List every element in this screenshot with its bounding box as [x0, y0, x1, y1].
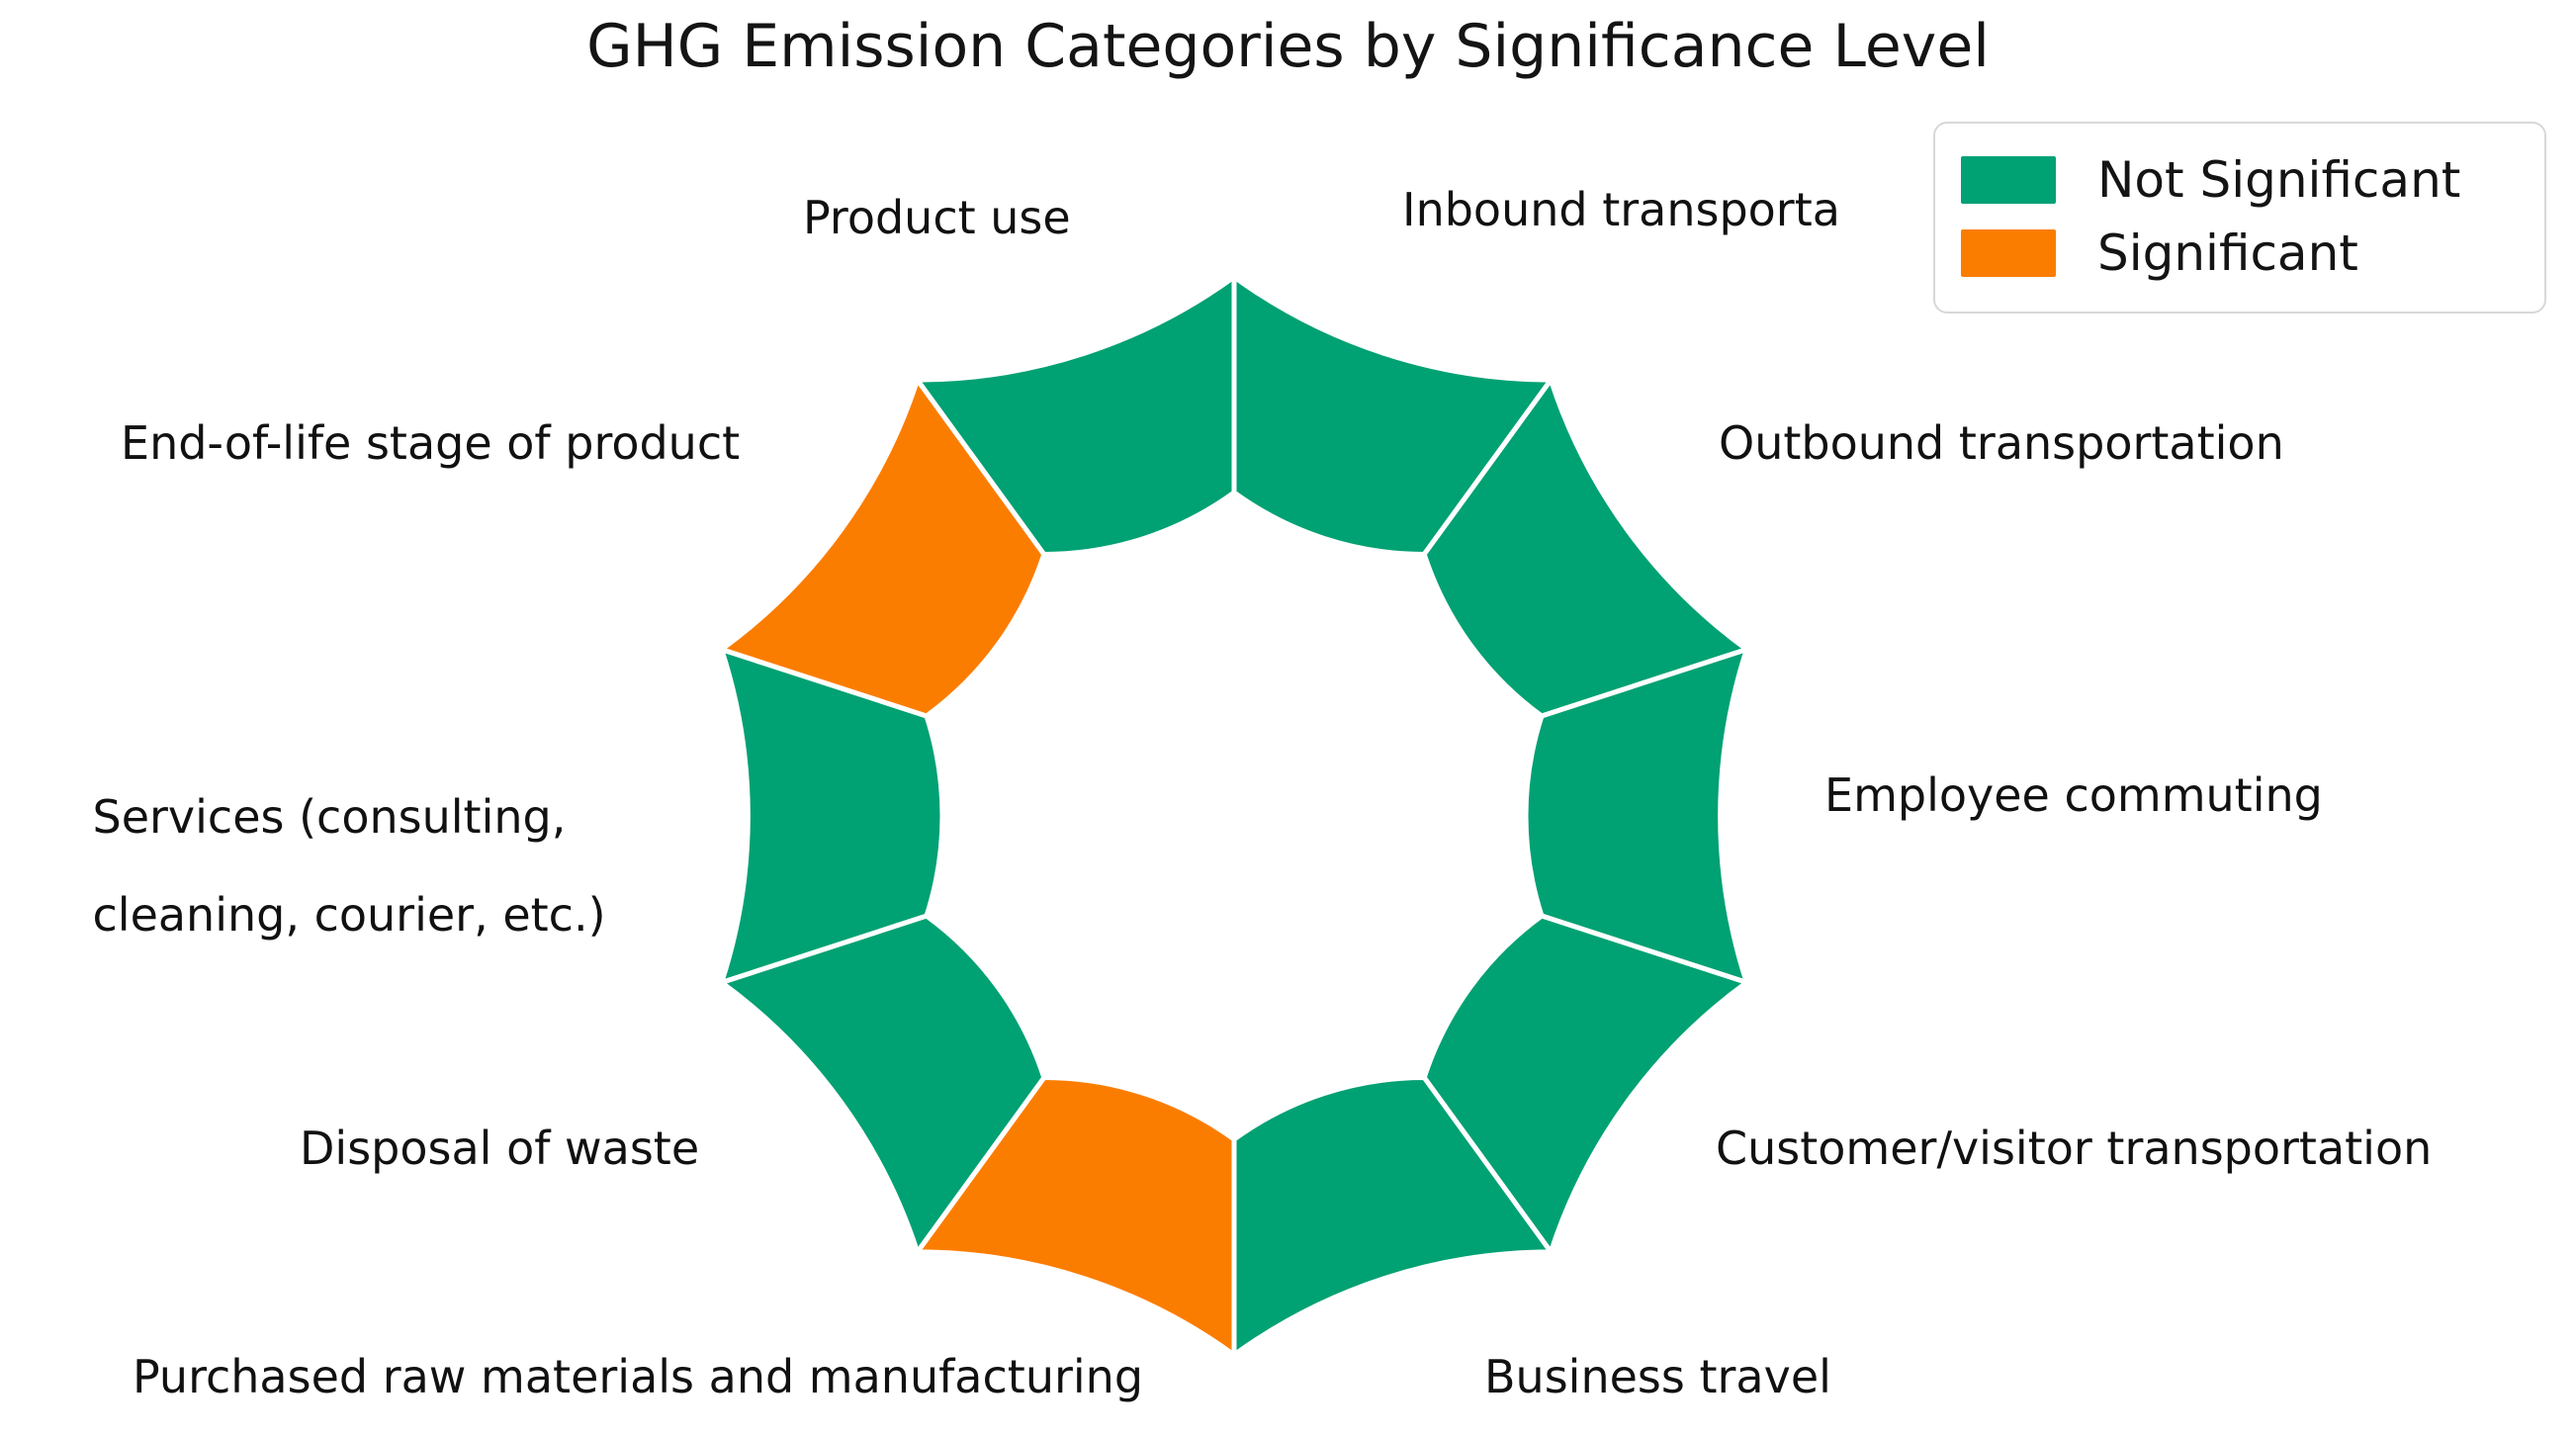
slice-label-business-travel: Business travel [1484, 1353, 1831, 1402]
chart-legend: Not Significant Significant [1933, 122, 2546, 314]
slice-label-employee-commuting: Employee commuting [1824, 771, 2323, 821]
slice-label-services: Services (consulting, cleaning, courier,… [35, 744, 606, 989]
slice-label-services-line1: Services (consulting, [93, 790, 567, 844]
legend-label-significant: Significant [2097, 225, 2358, 282]
slice-label-customer-visitor-transportation: Customer/visitor transportation [1716, 1124, 2432, 1174]
chart-canvas: GHG Emission Categories by Significance … [0, 0, 2576, 1439]
slice-label-outbound-transportation: Outbound transportation [1719, 419, 2284, 469]
slice-label-inbound-transportation: Inbound transporta [1402, 186, 1840, 235]
slice-label-services-line2: cleaning, courier, etc.) [93, 888, 606, 942]
legend-swatch-not-significant [1961, 156, 2056, 204]
slice-label-disposal-of-waste: Disposal of waste [300, 1124, 699, 1174]
legend-item-significant[interactable]: Significant [1961, 217, 2519, 290]
legend-item-not-significant[interactable]: Not Significant [1961, 143, 2519, 217]
slice-label-product-use: Product use [803, 194, 1071, 243]
donut-slices[interactable] [722, 277, 1747, 1355]
slice-label-end-of-life-stage: End-of-life stage of product [121, 419, 740, 469]
legend-swatch-significant [1961, 229, 2056, 277]
slice-label-purchased-raw-materials: Purchased raw materials and manufacturin… [133, 1353, 1143, 1402]
legend-label-not-significant: Not Significant [2097, 151, 2460, 209]
